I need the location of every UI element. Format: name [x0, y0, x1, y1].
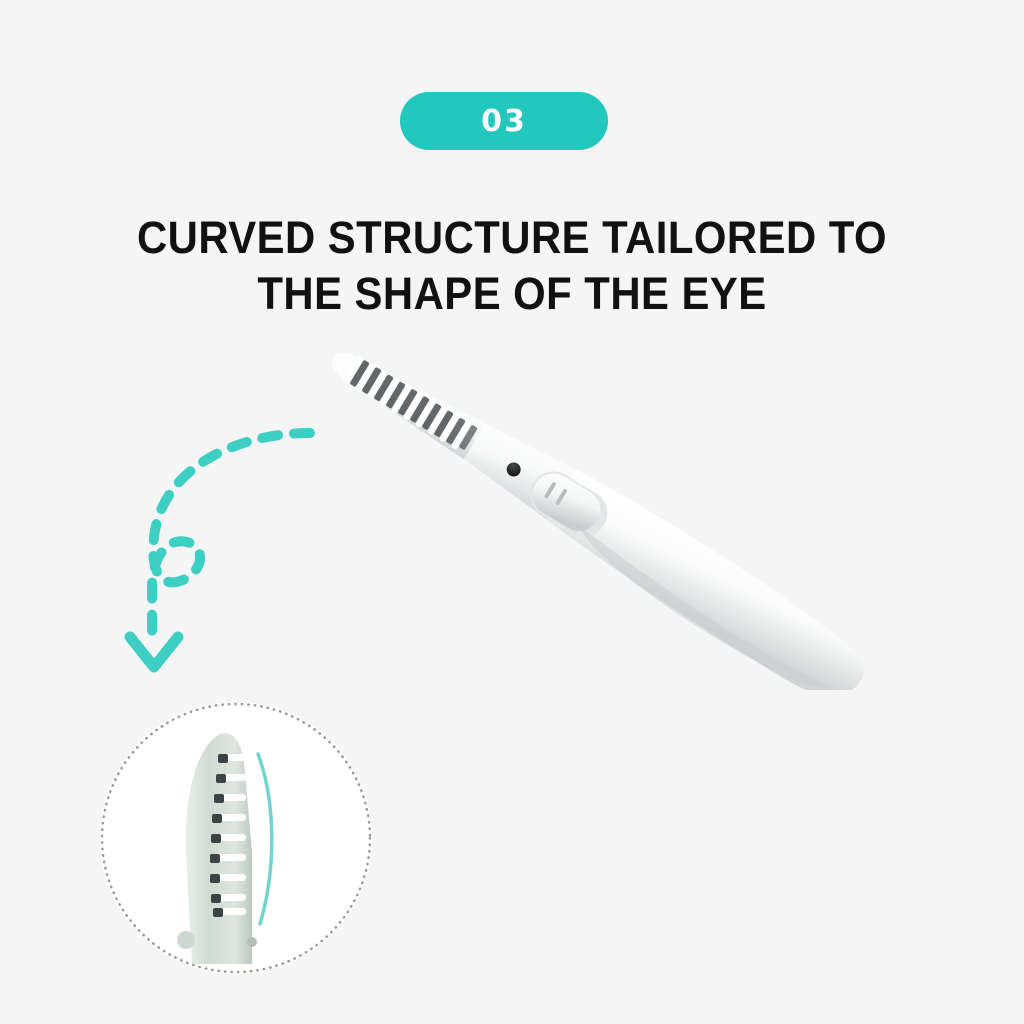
detail-side-nub [177, 931, 195, 949]
arrow-dashed-path [152, 433, 310, 641]
product-feature-card: 03 CURVED STRUCTURE TAILORED TO THE SHAP… [0, 0, 1024, 1024]
detail-curler-head-illustration [100, 702, 372, 974]
detail-head-body [186, 733, 252, 964]
headline-line-2: THE SHAPE OF THE EYE [94, 266, 931, 322]
curvature-guide-line [258, 754, 272, 924]
comb-teeth-group [342, 354, 478, 454]
close-up-detail-circle [100, 702, 380, 1007]
step-number-badge: 03 [400, 92, 608, 150]
product-image-eyelash-curler [255, 330, 915, 690]
arrow-illustration [118, 405, 348, 690]
arrowhead-icon [130, 637, 178, 667]
detail-side-port [247, 937, 257, 947]
page-title: CURVED STRUCTURE TAILORED TO THE SHAPE O… [94, 210, 931, 322]
eyelash-curler-illustration [255, 330, 915, 690]
headline-line-1: CURVED STRUCTURE TAILORED TO [94, 210, 931, 266]
step-number-label: 03 [481, 104, 527, 139]
curved-dashed-arrow [118, 405, 348, 690]
detail-circle-photo [100, 702, 372, 974]
